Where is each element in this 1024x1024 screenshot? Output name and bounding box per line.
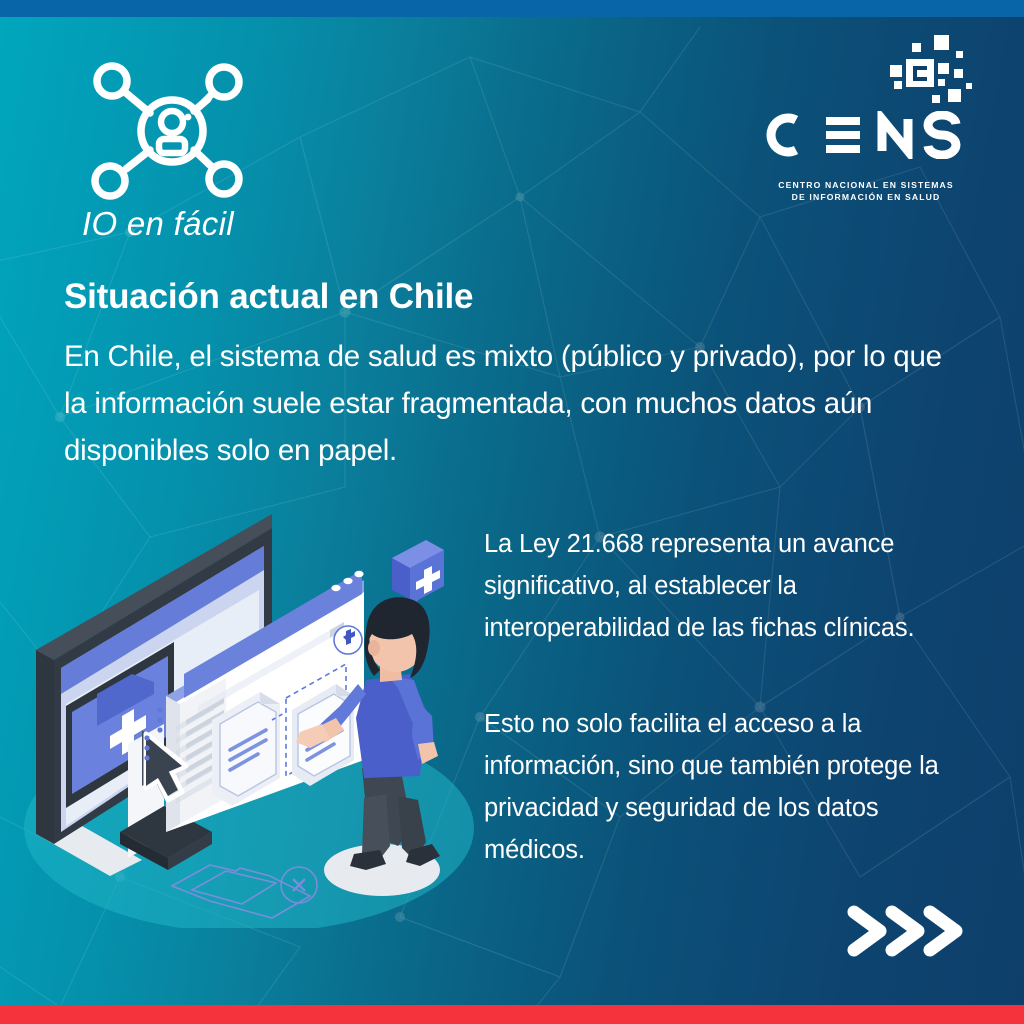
page-title: Situación actual en Chile	[64, 277, 473, 317]
bottom-accent-bar	[0, 1005, 1024, 1024]
cens-wordmark	[756, 111, 976, 159]
add-record-badge	[334, 626, 362, 654]
top-accent-bar	[0, 0, 1024, 17]
interoperability-network-icon	[84, 55, 259, 205]
cens-pixel-mark	[876, 33, 976, 113]
lede-paragraph: En Chile, el sistema de salud es mixto (…	[64, 333, 944, 474]
body-paragraph-1: La Ley 21.668 representa un avance signi…	[484, 523, 984, 649]
cens-tagline: CENTRO NACIONAL EN SISTEMAS DE INFORMACI…	[756, 179, 976, 203]
next-chevrons-icon[interactable]	[844, 900, 984, 962]
social-card: IO en fácil	[0, 0, 1024, 1024]
brand-subtitle: IO en fácil	[82, 205, 234, 243]
cens-logo: CENTRO NACIONAL EN SISTEMAS DE INFORMACI…	[756, 33, 976, 178]
isometric-health-records-illustration	[14, 498, 484, 928]
body-paragraph-2: Esto no solo facilita el acceso a la inf…	[484, 703, 984, 871]
